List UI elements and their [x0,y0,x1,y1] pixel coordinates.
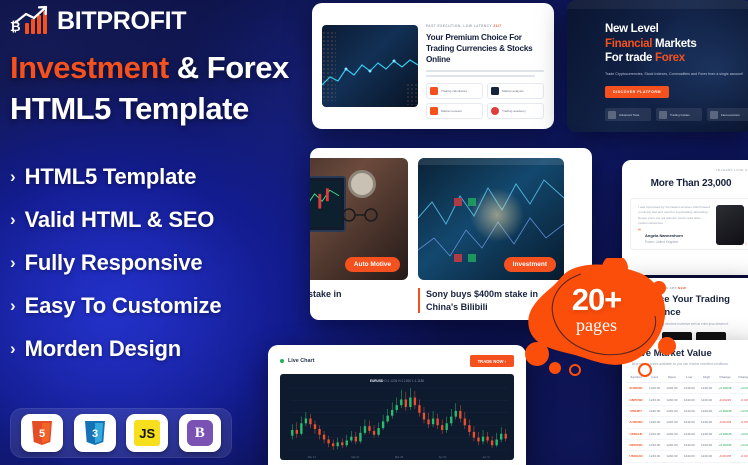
column-header: Change [715,372,735,383]
table-cell: 1240.00 [646,428,663,439]
table-row[interactable]: USDCAD1240.001240.001240.001240.00-0.004… [626,451,748,462]
glasses-graphic [338,208,384,222]
quote-icon: “ [638,229,641,235]
table-cell: 1240.00 [681,417,698,428]
chevron-right-icon: › [10,340,16,357]
table-cell: -0.00478 [715,417,735,428]
table-row[interactable]: GBPUSD1240.001240.001240.001240.00-0.002… [626,394,748,405]
javascript-icon: JS [134,420,160,446]
hero-kicker: FAST EXECUTION, LOW LATENCY 24/7 [426,24,544,28]
table-cell: +0.03% [735,405,748,416]
table-cell: +0.00028 [715,428,735,439]
table-cell: 1240.00 [646,405,663,416]
svg-text:Apr 04: Apr 04 [439,455,447,459]
table-cell: 1240.00 [646,394,663,405]
chip-label: Market reviews [441,109,462,113]
feature-chip[interactable]: Trading calculators [426,83,483,99]
blog-category-badge[interactable]: Auto Motive [345,257,400,272]
chevron-right-icon: › [10,211,16,228]
table-cell: 1240.00 [663,428,680,439]
trade-now-button[interactable]: TRADE NOW › [470,355,514,367]
hero-feature-chips: Trading calculators Market analysis Mark… [426,83,544,119]
chip-label: Trading academy [502,109,526,113]
chevron-right-icon: › [10,168,16,185]
table-row[interactable]: USDCHF1240.001240.001240.001240.00+0.000… [626,428,748,439]
table-cell: GBPUSD [626,394,646,405]
feature-item: › Morden Design [10,327,310,370]
table-cell: 1240.00 [698,394,715,405]
table-cell: 1240.00 [681,451,698,462]
left-panel: ₿ BITPROFIT Investment & Forex HTML5 Tem… [0,0,320,465]
calculator-icon [430,87,438,95]
feature-list: › HTML5 Template › Valid HTML & SEO › Fu… [10,155,310,370]
feature-label: Easy To Customize [25,293,222,319]
mockup-dark-hero-card: New Level Financial Markets For trade Fo… [567,0,748,132]
blog-title: s $400m stake inlibili [310,288,408,313]
feature-chip[interactable]: Market reviews [426,103,483,119]
testimonial-heading: More Than 23,000 [622,178,748,189]
table-cell: 1240.00 [681,405,698,416]
headline-rest: & Forex [169,50,289,85]
table-cell: 1240.00 [663,405,680,416]
testimonial-author-role: Power, United Kingdom [645,240,683,244]
chip-label: Market analysis [502,89,524,93]
hero-mock-image [322,25,418,107]
hero-mock-title: Your Premium Choice For Trading Currenci… [426,32,544,65]
column-header: High [698,372,715,383]
pages-count-badge: 20+ pages [519,258,684,378]
speed-icon [710,111,718,119]
feature-item: › Valid HTML & SEO [10,198,310,241]
table-cell: 1240.00 [663,439,680,450]
table-cell: 1240.00 [681,383,698,394]
mock-navbar [567,0,748,9]
table-cell: 1240.00 [663,451,680,462]
large-quote-icon: ” [744,241,748,257]
css3-badge: 3 [74,414,116,452]
pages-count-label: pages [519,316,674,334]
feature-item: › Fully Responsive [10,241,310,284]
table-cell: -0.00215 [715,394,735,405]
feature-chip[interactable]: Trading academy [487,103,544,119]
table-cell: 1240.00 [681,439,698,450]
mockup-hero-card: FAST EXECUTION, LOW LATENCY 24/7 Your Pr… [312,3,554,129]
table-cell: 1240.00 [663,417,680,428]
html5-icon: 5 [31,420,53,446]
table-cell: -0.01% [735,451,748,462]
brand-name: BITPROFIT [57,7,186,36]
table-cell: 1240.00 [663,394,680,405]
table-cell: 1240.00 [698,428,715,439]
testimonial-quote: I was impressed by the fastest services … [638,205,710,226]
table-cell: EURUSD [626,383,646,394]
chip-label: Advanced Tools [619,113,639,117]
headline-accent: Investment [10,50,169,85]
table-cell: USDJPY [626,405,646,416]
hero-mock-paragraph [426,70,544,77]
hand-glow-graphic [470,188,524,242]
dark-title-line-1: New Level [605,22,744,37]
chevron-right-icon: › [10,297,16,314]
table-cell: +0.02% [735,383,748,394]
chip-label: Trading calculators [441,89,467,93]
guide-icon [659,111,667,119]
headline-line-1: Investment & Forex [10,48,310,89]
table-cell: +0.00028 [715,405,735,416]
dark-hero-chip-group: Advanced Tools Trading Guides Fast execu… [605,108,748,121]
svg-text:Apr 11: Apr 11 [482,455,490,459]
blog-post-item[interactable]: Auto Motive s $400m stake inlibili [310,158,408,313]
dark-title-line-3: For trade Forex [605,51,744,66]
testimonial-author-name: Angela Nannenhorn [645,233,683,238]
pages-count-number: 20+ [519,284,674,315]
svg-text:5: 5 [39,428,45,440]
feature-item: › Easy To Customize [10,284,310,327]
table-cell: 1240.00 [646,417,663,428]
table-cell: AUDUSD [626,417,646,428]
table-cell: 1240.00 [646,451,663,462]
table-cell: 1240.00 [681,428,698,439]
table-cell: 1240.00 [663,383,680,394]
table-cell: 1240.00 [646,383,663,394]
dark-title-line-2: Financial Markets [605,37,744,52]
table-cell: 1240.00 [646,439,663,450]
feature-item: › HTML5 Template [10,155,310,198]
table-cell: -0.02% [735,394,748,405]
testimonial-kicker: TRADERS LOVE US [716,168,748,172]
feature-label: Morden Design [25,336,181,362]
tech-badge-group: 5 3 JS B [10,408,232,458]
chip-label: Trading Guides [670,113,690,117]
html5-badge: 5 [21,414,63,452]
dot-pattern-decoration-2 [406,83,418,105]
promo-banner: ₿ BITPROFIT Investment & Forex HTML5 Tem… [0,0,748,465]
table-cell: NZDUSD [626,439,646,450]
table-cell: 1240.00 [698,451,715,462]
brand-logo[interactable]: ₿ BITPROFIT [10,6,186,36]
dark-chip[interactable]: Advanced Tools [605,108,651,121]
clock-graphic [348,170,376,198]
dark-hero-paragraph: Trade Cryptocurrencies, Stock Indexes, C… [605,72,745,78]
table-row[interactable]: AUDUSD1240.001240.001240.001240.00-0.004… [626,417,748,428]
table-cell: -0.04% [735,417,748,428]
javascript-badge: JS [126,414,168,452]
table-cell: 1240.00 [698,383,715,394]
testimonial-item: I was impressed by the fastest services … [630,198,748,250]
table-cell: 1240.00 [698,405,715,416]
table-cell: USDCHF [626,428,646,439]
table-cell: +0.02% [735,428,748,439]
css3-icon: 3 [84,420,106,446]
sparkline-graphic [322,57,418,91]
table-cell: +0.00028 [715,383,735,394]
table-cell: 1240.00 [681,394,698,405]
svg-text:3: 3 [92,428,98,440]
academy-icon [491,107,499,115]
table-cell: USDCAD [626,451,646,462]
feature-chip[interactable]: Market analysis [487,83,544,99]
avatar [716,205,744,245]
tools-icon [608,111,616,119]
discover-platform-button[interactable]: DISCOVER PLATFORM [605,86,669,98]
flag-icon [430,107,438,115]
chevron-right-icon: › [10,254,16,271]
up-arrow-icon [14,5,50,25]
dark-chip[interactable]: Fast execution [707,108,748,121]
table-cell: 1240.00 [698,417,715,428]
bootstrap-badge: B [179,414,221,452]
table-cell: -0.00478 [715,451,735,462]
blog-image: Auto Motive [310,158,408,280]
market-data-table: Symbol Last Open Low High Change Change%… [626,372,748,463]
table-cell: +0.04% [735,439,748,450]
column-header: Change% [735,372,748,383]
dark-chip[interactable]: Trading Guides [656,108,702,121]
table-row[interactable]: EURUSD1240.001240.001240.001240.00+0.000… [626,383,748,394]
bootstrap-icon: B [187,420,213,446]
svg-text:Mar 28: Mar 28 [395,455,404,459]
feature-label: Valid HTML & SEO [25,207,215,233]
page-title: Investment & Forex HTML5 Template [10,48,310,130]
table-cell: 1240.00 [698,439,715,450]
headline-line-2: HTML5 Template [10,89,310,130]
table-cell: +0.00295 [715,439,735,450]
bitcoin-growth-chart-icon: ₿ [10,6,52,36]
svg-text:Mar 21: Mar 21 [351,455,360,459]
table-row[interactable]: NZDUSD1240.001240.001240.001240.00+0.002… [626,439,748,450]
dark-hero-title: New Level Financial Markets For trade Fo… [605,22,744,66]
table-row[interactable]: USDJPY1240.001240.001240.001240.00+0.000… [626,405,748,416]
chart-icon [491,87,499,95]
feature-label: HTML5 Template [25,164,197,190]
feature-label: Fully Responsive [25,250,203,276]
chip-label: Fast execution [721,113,740,117]
